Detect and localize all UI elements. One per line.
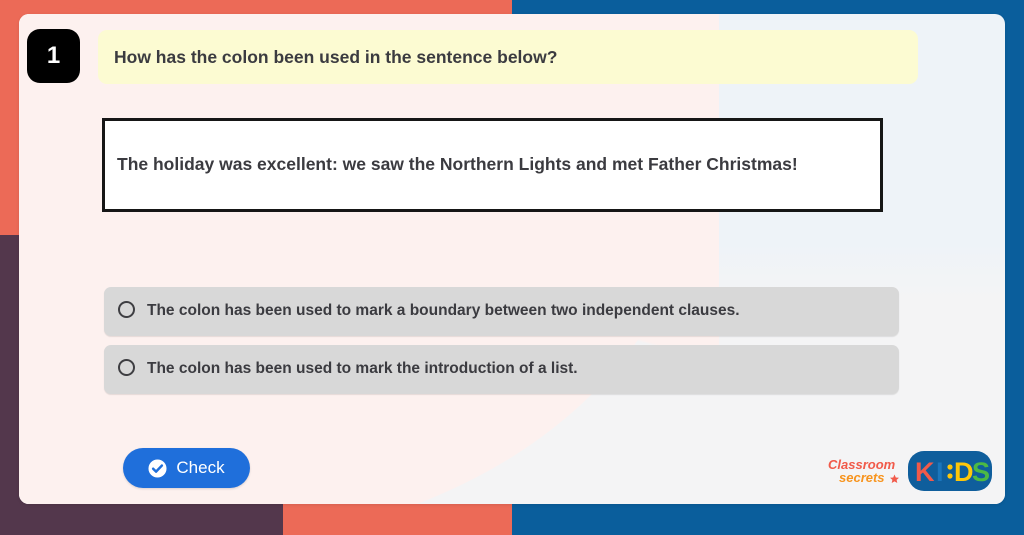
answer-option-a[interactable]: The colon has been used to mark a bounda…: [104, 287, 899, 336]
radio-button-icon[interactable]: [118, 359, 135, 376]
radio-button-icon[interactable]: [118, 301, 135, 318]
classroom-secrets-logo: Classroom secrets: [825, 454, 903, 488]
check-circle-icon: [148, 459, 167, 478]
kids-logo: K I D S: [907, 450, 993, 492]
branding-logos: Classroom secrets K I D S: [825, 450, 993, 492]
quiz-screen: 1 How has the colon been used in the sen…: [0, 0, 1024, 535]
answer-option-a-label: The colon has been used to mark a bounda…: [147, 299, 740, 323]
answer-options-list: The colon has been used to mark a bounda…: [104, 287, 899, 403]
star-icon: [890, 475, 899, 484]
kids-dot-lower: [947, 473, 952, 478]
answer-option-b-label: The colon has been used to mark the intr…: [147, 357, 578, 381]
check-button[interactable]: Check: [123, 448, 250, 488]
question-card: 1 How has the colon been used in the sen…: [19, 14, 1005, 504]
sentence-text: The holiday was excellent: we saw the No…: [105, 152, 810, 177]
question-number-label: 1: [47, 42, 60, 70]
kids-letter-k: K: [915, 457, 935, 487]
question-number-badge: 1: [27, 29, 80, 83]
question-prompt-bar: How has the colon been used in the sente…: [98, 30, 918, 84]
classroom-secrets-line2: secrets: [839, 470, 885, 485]
sentence-panel: The holiday was excellent: we saw the No…: [102, 118, 883, 212]
kids-letter-i: I: [936, 457, 944, 487]
kids-letter-s: S: [972, 457, 990, 487]
answer-option-b[interactable]: The colon has been used to mark the intr…: [104, 345, 899, 394]
check-button-label: Check: [176, 458, 224, 478]
kids-dot-upper: [947, 464, 952, 469]
question-prompt-text: How has the colon been used in the sente…: [98, 46, 557, 69]
kids-letter-d: D: [954, 457, 974, 487]
card-content: 1 How has the colon been used in the sen…: [19, 14, 1005, 504]
